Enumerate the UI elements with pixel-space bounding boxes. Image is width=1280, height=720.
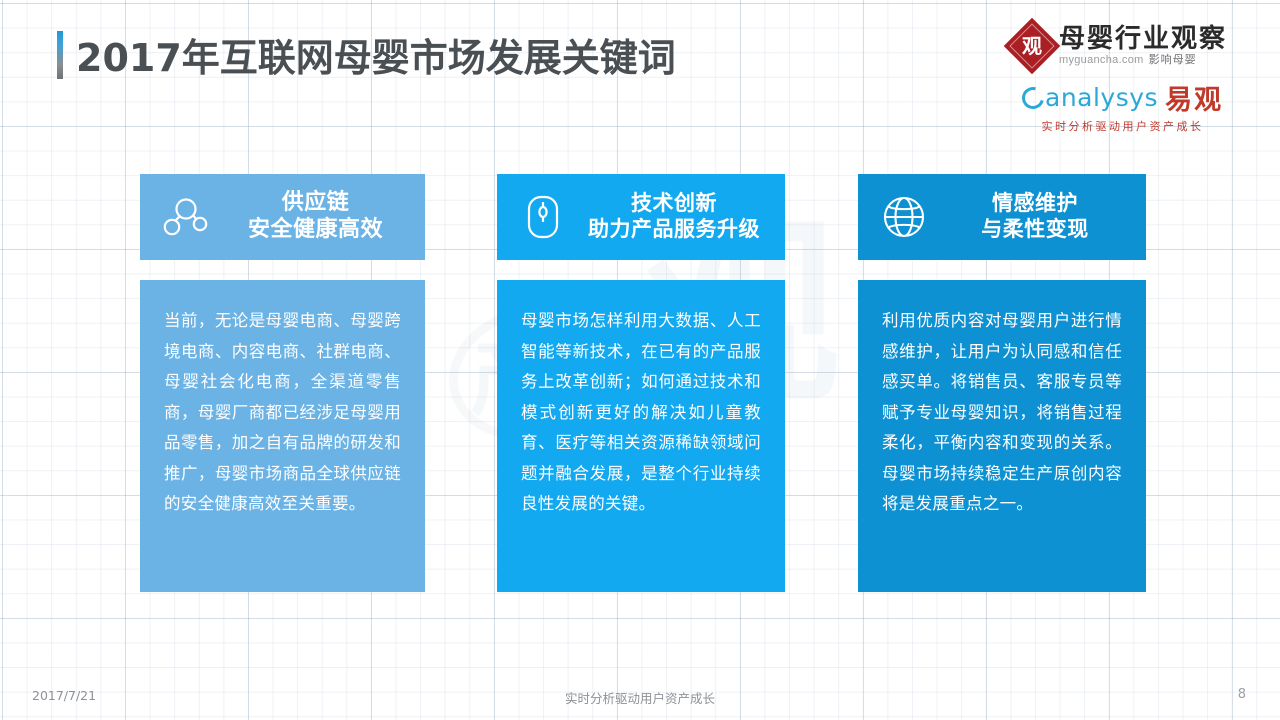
- card-tech-innovation-header: 技术创新 助力产品服务升级: [497, 174, 785, 260]
- globe-icon: [880, 193, 928, 241]
- card-supply-chain-body: 当前，无论是母婴电商、母婴跨境电商、内容电商、社群电商、母婴社会化电商，全渠道零…: [140, 280, 425, 592]
- card-emotional-care-title: 情感维护 与柔性变现: [938, 191, 1146, 242]
- slide-footer: 2017/7/21 实时分析驱动用户资产成长 8: [0, 674, 1280, 720]
- card-supply-chain-title: 供应链 安全健康高效: [220, 190, 425, 244]
- computer-mouse-icon: [519, 193, 567, 241]
- footer-date: 2017/7/21: [32, 688, 96, 703]
- card-emotional-care-header: 情感维护 与柔性变现: [858, 174, 1146, 260]
- keyword-cards: 供应链 安全健康高效 当前，无论是母婴电商、母婴跨境电商、内容电商、社群电商、母…: [0, 0, 1280, 720]
- card-tech-innovation-body: 母婴市场怎样利用大数据、人工智能等新技术，在已有的产品服务上改革创新；如何通过技…: [497, 280, 785, 592]
- card-emotional-care-body: 利用优质内容对母婴用户进行情感维护，让用户为认同感和信任感买单。将销售员、客服专…: [858, 280, 1146, 592]
- network-nodes-icon: [162, 193, 210, 241]
- footer-page-number: 8: [1238, 687, 1246, 702]
- card-supply-chain-header: 供应链 安全健康高效: [140, 174, 425, 260]
- footer-slogan: 实时分析驱动用户资产成长: [565, 688, 715, 707]
- card-tech-innovation-title: 技术创新 助力产品服务升级: [577, 191, 785, 242]
